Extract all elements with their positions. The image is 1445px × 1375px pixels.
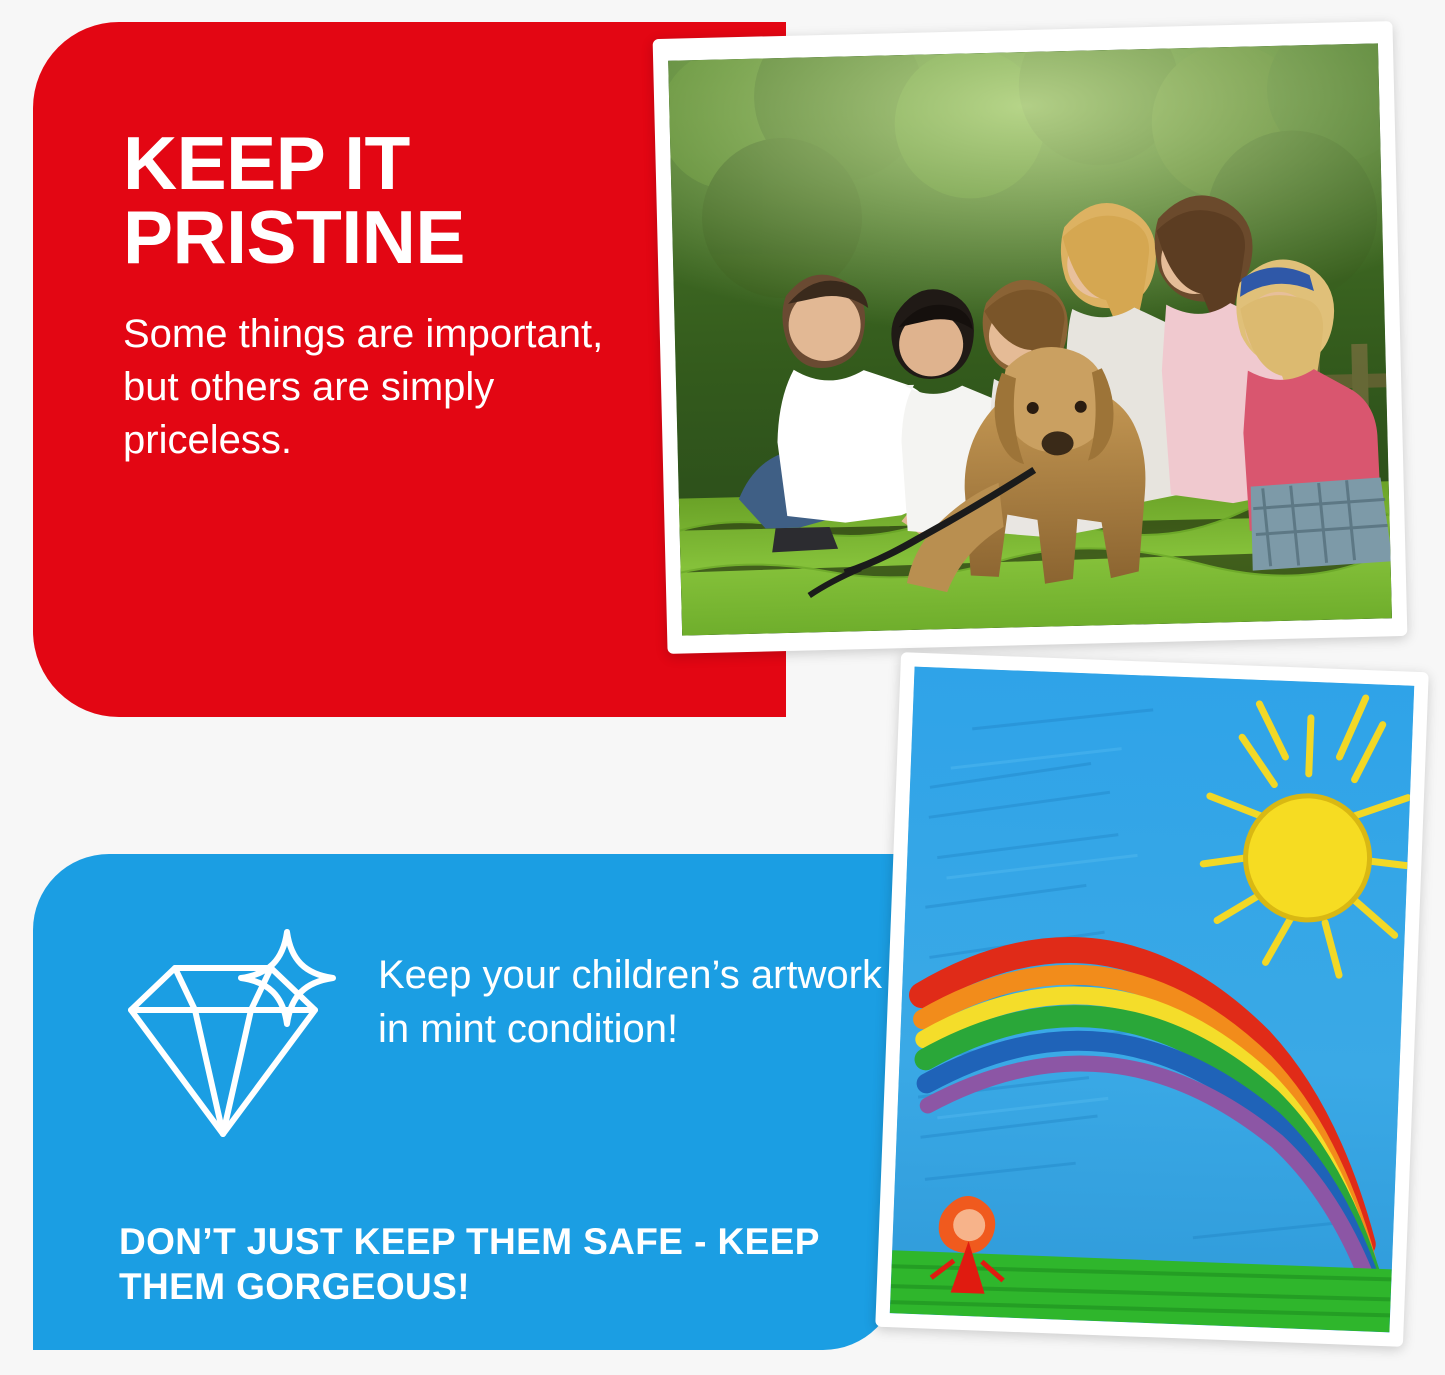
blue-panel: Keep your children’s artwork in mint con… — [33, 854, 899, 1350]
page-title: KEEP IT PRISTINE — [123, 127, 643, 274]
blue-panel-copy: Keep your children’s artwork in mint con… — [378, 949, 898, 1056]
red-panel-content: KEEP IT PRISTINE Some things are importa… — [123, 127, 643, 468]
family-photo-card — [653, 21, 1408, 654]
family-photo-image — [668, 43, 1392, 635]
drawing-photo-card — [875, 652, 1429, 1347]
blue-panel-cta: DON’T JUST KEEP THEM SAFE - KEEP THEM GO… — [119, 1219, 899, 1309]
drawing-photo-image — [890, 667, 1414, 1333]
diamond-icon — [119, 922, 359, 1152]
red-panel-subcopy: Some things are important, but others ar… — [123, 308, 643, 468]
